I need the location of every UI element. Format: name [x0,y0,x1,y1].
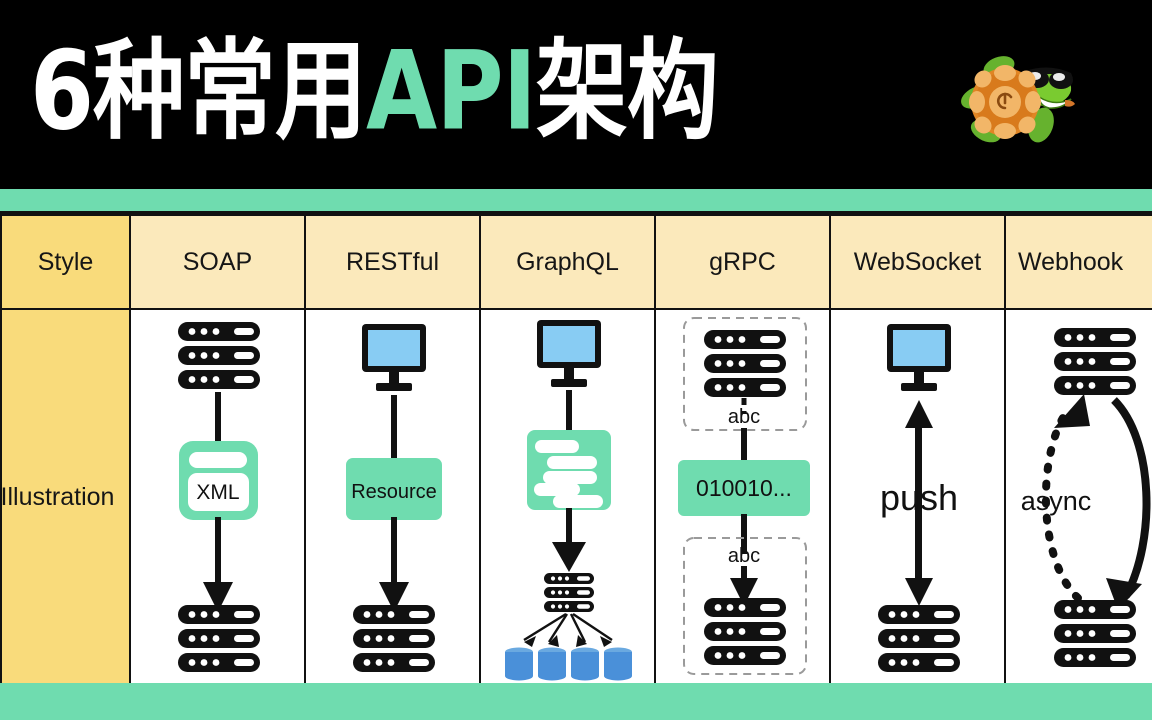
down-arrow-head [552,542,586,572]
binary-box: 010010... [678,460,810,516]
curved-solid-arrow [1114,400,1147,596]
column-header-soap: SOAP [130,215,305,309]
column-header-restful: RESTful [305,215,480,309]
down-arrow-shaft-lower [391,517,397,589]
websocket-diagram: push [831,310,1006,684]
server-rack-icon [1054,328,1136,395]
table-row-illustration: Illustration [1,309,1152,685]
column-header-graphql: GraphQL [480,215,655,309]
database-icon [505,648,533,681]
monitor-icon [537,320,601,387]
accent-stripe-bottom [0,683,1152,720]
cell-restful-illustration: Resource [305,309,480,685]
resource-label: Resource [351,481,437,503]
server-rack-icon [544,573,594,612]
page-title: 6种常用API架构 [30,26,718,158]
title-text-leading: 6种常用 [30,28,366,154]
grpc-label-abc-top: abc [728,406,760,428]
server-rack-icon [878,605,960,672]
down-arrow-shaft-upper [566,390,572,432]
query-box [527,430,611,510]
grpc-diagram: abc 010010... abc [656,310,831,684]
graphql-diagram [481,310,656,684]
column-header-grpc: gRPC [655,215,830,309]
row-header-illustration-label: Illustration [0,483,129,512]
server-rack-icon [704,598,786,665]
api-comparison-table: Style SOAP RESTful GraphQL gRPC WebSocke… [0,211,1152,683]
title-banner: 6种常用API架构 [0,0,1152,189]
database-icon [538,648,566,681]
column-header-webhook: Webhook [1005,215,1152,309]
down-arrow-shaft-lower [215,517,221,589]
down-arrow-shaft-upper [215,392,221,444]
server-rack-icon [353,605,435,672]
cell-webhook-illustration: async [1005,309,1152,685]
cell-graphql-illustration [480,309,655,685]
grpc-label-binary: 010010... [696,475,792,501]
curved-dotted-arrow-head [1054,394,1090,428]
cell-websocket-illustration: push [830,309,1005,685]
server-rack-icon [704,330,786,397]
grpc-label-abc-bottom: abc [728,545,760,567]
fan-out-arrows [524,614,612,642]
slide-canvas: 6种常用API架构 [0,0,1152,720]
database-icon [571,648,599,681]
title-text-accent: API [366,28,536,154]
server-rack-icon [178,322,260,389]
resource-box: Resource [346,458,442,520]
server-rack-icon [1054,600,1136,667]
down-arrow-shaft-upper [741,428,747,462]
cell-grpc-illustration: abc 010010... abc [655,309,830,685]
column-header-websocket: WebSocket [830,215,1005,309]
server-rack-icon [178,605,260,672]
async-label: async [1021,486,1092,516]
row-header-illustration: Illustration [1,309,130,685]
down-arrow-shaft-upper [391,395,397,460]
xml-label: XML [196,481,239,504]
accent-stripe-top [0,189,1152,211]
turtle-mascot-icon [955,45,1080,150]
column-header-style: Style [1,215,130,309]
webhook-diagram: async [1006,310,1152,684]
xml-envelope-icon: XML [179,441,258,520]
database-icon [604,648,632,681]
restful-diagram: Resource [306,310,481,684]
push-label: push [880,477,958,518]
table-header-row: Style SOAP RESTful GraphQL gRPC WebSocke… [1,215,1152,309]
title-text-trailing: 架构 [536,28,718,154]
cell-soap-illustration: XML [130,309,305,685]
monitor-icon [887,324,951,391]
soap-diagram: XML [131,310,306,684]
monitor-icon [362,324,426,391]
